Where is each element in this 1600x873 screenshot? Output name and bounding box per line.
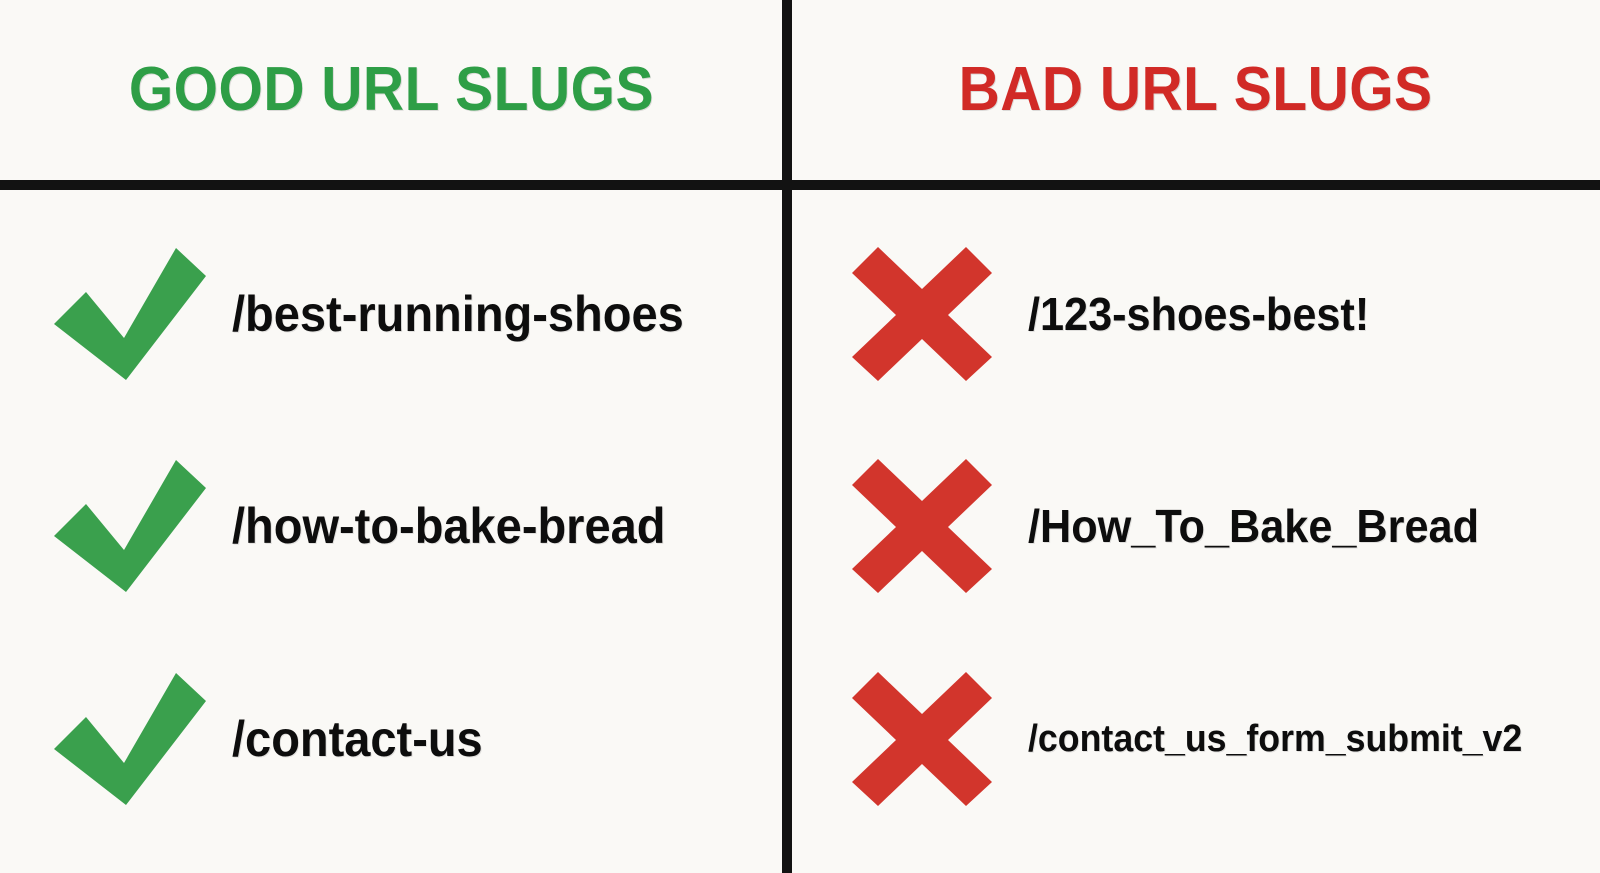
bad-slug-list: /123-shoes-best! /How_To_Bake_Bread /con… bbox=[792, 190, 1600, 873]
horizontal-divider bbox=[0, 180, 1600, 190]
vertical-divider bbox=[782, 0, 792, 873]
cross-icon bbox=[842, 244, 1002, 384]
slug-text: /How_To_Bake_Bread bbox=[1028, 503, 1479, 549]
slug-text: /contact_us_form_submit_v2 bbox=[1028, 720, 1522, 758]
list-item: /contact-us bbox=[0, 649, 782, 829]
slug-text: /best-running-shoes bbox=[232, 289, 684, 339]
list-item: /How_To_Bake_Bread bbox=[792, 436, 1600, 616]
good-slug-list: /best-running-shoes /how-to-bake-bread /… bbox=[0, 190, 782, 873]
bad-column-header: BAD URL SLUGS bbox=[792, 0, 1600, 180]
cross-icon bbox=[842, 456, 1002, 596]
check-icon bbox=[48, 456, 208, 596]
good-column-header: GOOD URL SLUGS bbox=[0, 0, 782, 180]
cross-icon bbox=[842, 669, 1002, 809]
list-item: /contact_us_form_submit_v2 bbox=[792, 649, 1600, 829]
good-column-title: GOOD URL SLUGS bbox=[128, 59, 653, 121]
url-slug-comparison-infographic: GOOD URL SLUGS BAD URL SLUGS /best-runni… bbox=[0, 0, 1600, 873]
list-item: /best-running-shoes bbox=[0, 224, 782, 404]
slug-text: /contact-us bbox=[232, 714, 483, 764]
list-item: /how-to-bake-bread bbox=[0, 436, 782, 616]
bad-column-title: BAD URL SLUGS bbox=[959, 59, 1433, 121]
slug-text: /how-to-bake-bread bbox=[232, 501, 665, 551]
check-icon bbox=[48, 669, 208, 809]
list-item: /123-shoes-best! bbox=[792, 224, 1600, 404]
check-icon bbox=[48, 244, 208, 384]
slug-text: /123-shoes-best! bbox=[1028, 291, 1369, 337]
